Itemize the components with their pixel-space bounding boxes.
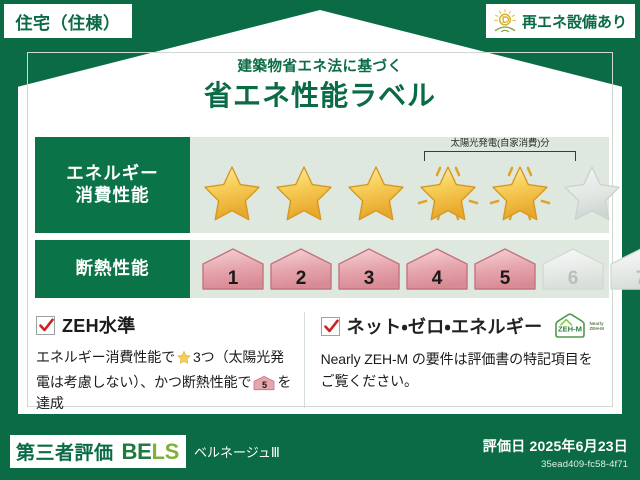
energy-label-line2: 消費性能 bbox=[76, 185, 150, 207]
renewable-equipment-label: 再エネ設備あり bbox=[522, 11, 627, 32]
zeh-m-logo-subtext: Nearly ZEH-M bbox=[589, 321, 604, 332]
star-list bbox=[198, 159, 626, 225]
zeh-standard-header: ZEH水準 bbox=[36, 312, 298, 338]
star-5-solar bbox=[486, 159, 554, 225]
inline-house-icon: 5 bbox=[253, 375, 275, 391]
net-zero-energy-header: ネット・ゼロ・エネルギー ZEH-M Nearly ZEH-M bbox=[321, 312, 604, 340]
bels-logo: BELS bbox=[122, 439, 179, 465]
insulation-label-line1: 断熱性能 bbox=[76, 258, 150, 280]
bels-jp-label: 第三者評価 bbox=[16, 438, 114, 465]
building-name: ベルネージュⅢ bbox=[194, 442, 280, 461]
insulation-level-5-number: 5 bbox=[472, 269, 538, 288]
insulation-level-scale: 1 2 3 4 bbox=[190, 240, 640, 298]
evaluation-id: 35ead409-fc58-4f71 bbox=[483, 459, 628, 470]
zeh-body-part1: エネルギー消費性能で bbox=[36, 349, 175, 365]
energy-star-rating: 太陽光発電(自家消費)分 bbox=[190, 137, 626, 233]
zeh-m-sub-line1: Nearly bbox=[589, 321, 603, 326]
insulation-level-4: 4 bbox=[404, 246, 470, 292]
net-zero-energy-checkbox[interactable] bbox=[321, 317, 340, 336]
net-zero-energy-title: ネット・ゼロ・エネルギー bbox=[347, 313, 543, 339]
insulation-level-3: 3 bbox=[336, 246, 402, 292]
insulation-level-2-number: 2 bbox=[268, 269, 334, 288]
title-subtitle: 建築物省エネ法に基づく bbox=[0, 60, 640, 76]
insulation-level-6: 6 bbox=[540, 246, 606, 292]
insulation-performance-label-box: 断熱性能 bbox=[35, 240, 190, 298]
bels-logo-part1: BE bbox=[122, 439, 152, 464]
bels-footer: 第三者評価 BELS ベルネージュⅢ bbox=[10, 435, 280, 468]
zeh-standard-checkbox[interactable] bbox=[36, 316, 55, 335]
zeh-m-sub-line2: ZEH-M bbox=[589, 326, 604, 331]
zeh-m-logo: ZEH-M Nearly ZEH-M bbox=[553, 312, 604, 340]
criteria-panels: ZEH水準 エネルギー消費性能で3つ（太陽光発電は考慮しない）、かつ断熱性能で5… bbox=[30, 312, 610, 408]
title-main: 省エネ性能ラベル bbox=[0, 81, 640, 112]
solar-contribution-annotation: 太陽光発電(自家消費)分 bbox=[424, 139, 576, 161]
energy-performance-label-box: エネルギー 消費性能 bbox=[35, 137, 190, 233]
insulation-level-2: 2 bbox=[268, 246, 334, 292]
evaluation-info: 評価日 2025年6月23日 35ead409-fc58-4f71 bbox=[483, 436, 628, 470]
insulation-performance-row: 断熱性能 bbox=[35, 240, 609, 298]
zeh-standard-body: エネルギー消費性能で3つ（太陽光発電は考慮しない）、かつ断熱性能で5を達成 bbox=[36, 347, 298, 415]
zeh-standard-panel: ZEH水準 エネルギー消費性能で3つ（太陽光発電は考慮しない）、かつ断熱性能で5… bbox=[30, 312, 304, 408]
energy-performance-row: エネルギー 消費性能 太陽光発電(自家消費)分 bbox=[35, 137, 609, 233]
insulation-house-list: 1 2 3 4 bbox=[200, 246, 640, 292]
housing-type-badge: 住宅（住棟） bbox=[4, 4, 132, 38]
insulation-level-7-number: 7 bbox=[608, 269, 640, 288]
inline-house-level: 5 bbox=[253, 381, 275, 390]
energy-performance-label: 住宅（住棟） 再エネ設備あり 建築 bbox=[0, 0, 640, 480]
solar-sun-icon bbox=[492, 8, 518, 34]
solar-annotation-text: 太陽光発電(自家消費)分 bbox=[424, 139, 576, 149]
bels-badge: 第三者評価 BELS bbox=[10, 435, 186, 468]
star-1 bbox=[198, 159, 266, 225]
net-zero-energy-body: Nearly ZEH-M の要件は評価書の特記項目をご覧ください。 bbox=[321, 349, 604, 392]
zeh-standard-title: ZEH水準 bbox=[62, 312, 136, 338]
star-6-empty bbox=[558, 159, 626, 225]
svg-text:ZEH-M: ZEH-M bbox=[558, 325, 582, 334]
insulation-level-1-number: 1 bbox=[200, 269, 266, 288]
page-title: 建築物省エネ法に基づく 省エネ性能ラベル bbox=[0, 60, 640, 112]
insulation-level-4-number: 4 bbox=[404, 269, 470, 288]
insulation-level-7: 7 bbox=[608, 246, 640, 292]
insulation-level-3-number: 3 bbox=[336, 269, 402, 288]
energy-label-line1: エネルギー bbox=[66, 163, 159, 185]
star-3 bbox=[342, 159, 410, 225]
inline-star-icon bbox=[176, 349, 192, 372]
star-2 bbox=[270, 159, 338, 225]
star-4-solar bbox=[414, 159, 482, 225]
housing-type-label: 住宅（住棟） bbox=[16, 9, 121, 34]
net-zero-energy-panel: ネット・ゼロ・エネルギー ZEH-M Nearly ZEH-M Nearly Z… bbox=[304, 312, 610, 408]
evaluation-date: 評価日 2025年6月23日 bbox=[483, 436, 628, 456]
insulation-level-6-number: 6 bbox=[540, 269, 606, 288]
insulation-level-5: 5 bbox=[472, 246, 538, 292]
renewable-equipment-badge: 再エネ設備あり bbox=[486, 4, 635, 38]
insulation-level-1: 1 bbox=[200, 246, 266, 292]
bels-logo-part2: LS bbox=[151, 439, 179, 464]
